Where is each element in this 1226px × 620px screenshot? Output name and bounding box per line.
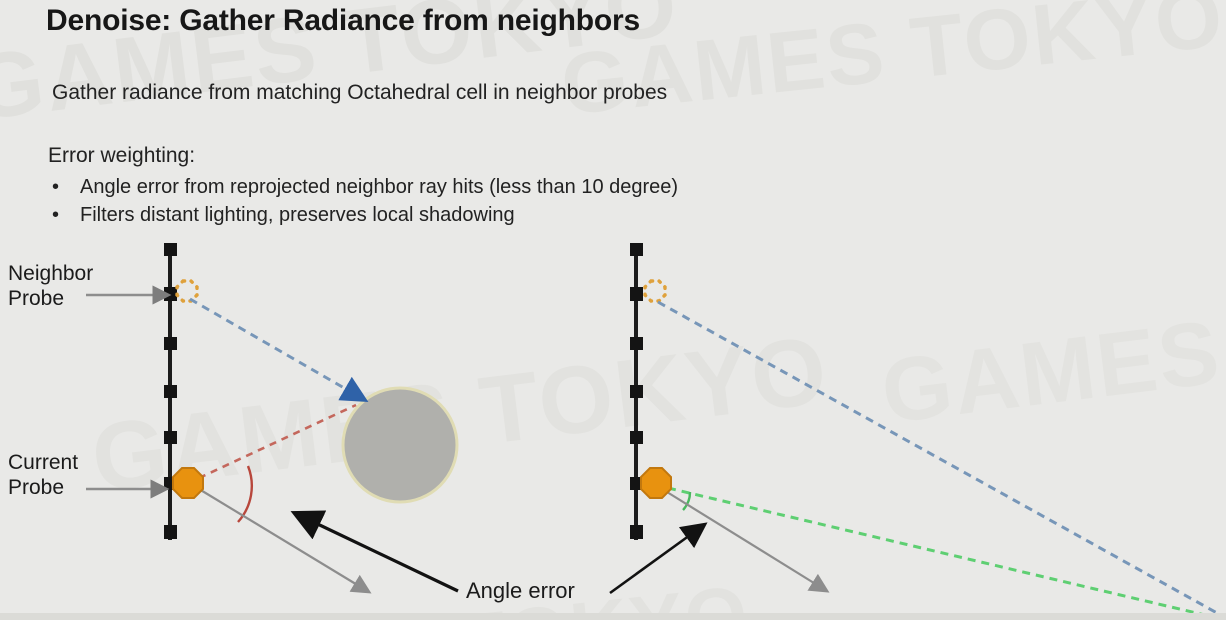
pointer-arrow-angle-error-right	[610, 530, 697, 593]
wall-tick	[164, 243, 177, 256]
wall-tick	[630, 385, 643, 398]
wall-tick	[164, 525, 177, 539]
current-probe-octagon-left	[173, 468, 203, 498]
neighbor-ray-blue-left	[190, 299, 358, 396]
wall-tick	[630, 525, 643, 539]
bottom-bar	[0, 613, 1226, 620]
current-probe-octagon-right	[641, 468, 671, 498]
wall-tick	[630, 431, 643, 444]
wall-tick	[630, 243, 643, 256]
pointer-arrow-angle-error-left	[305, 518, 458, 591]
wall-tick	[630, 287, 643, 301]
current-ray-red-left	[199, 405, 356, 478]
neighbor-probe-octagon-left	[177, 281, 197, 301]
occluder-sphere	[343, 388, 457, 502]
wall-tick	[164, 385, 177, 398]
current-ray-gray-right	[667, 492, 822, 588]
slide-root: GAMES TOKYO GAMES TOKYO GAMES TOKYO GAME…	[0, 0, 1226, 620]
right-panel-diagram	[630, 243, 1226, 620]
wall-tick	[164, 431, 177, 444]
angle-error-arc-right	[683, 492, 690, 510]
diagram-canvas	[0, 0, 1226, 620]
wall-tick	[630, 337, 643, 350]
wall-tick	[164, 337, 177, 350]
current-ray-gray-left	[199, 489, 364, 589]
wall-tick	[164, 287, 177, 301]
current-ray-green-right	[668, 488, 1226, 620]
neighbor-ray-blue-right	[658, 302, 1226, 618]
neighbor-probe-octagon-right	[645, 281, 665, 301]
left-panel-diagram	[164, 243, 457, 589]
